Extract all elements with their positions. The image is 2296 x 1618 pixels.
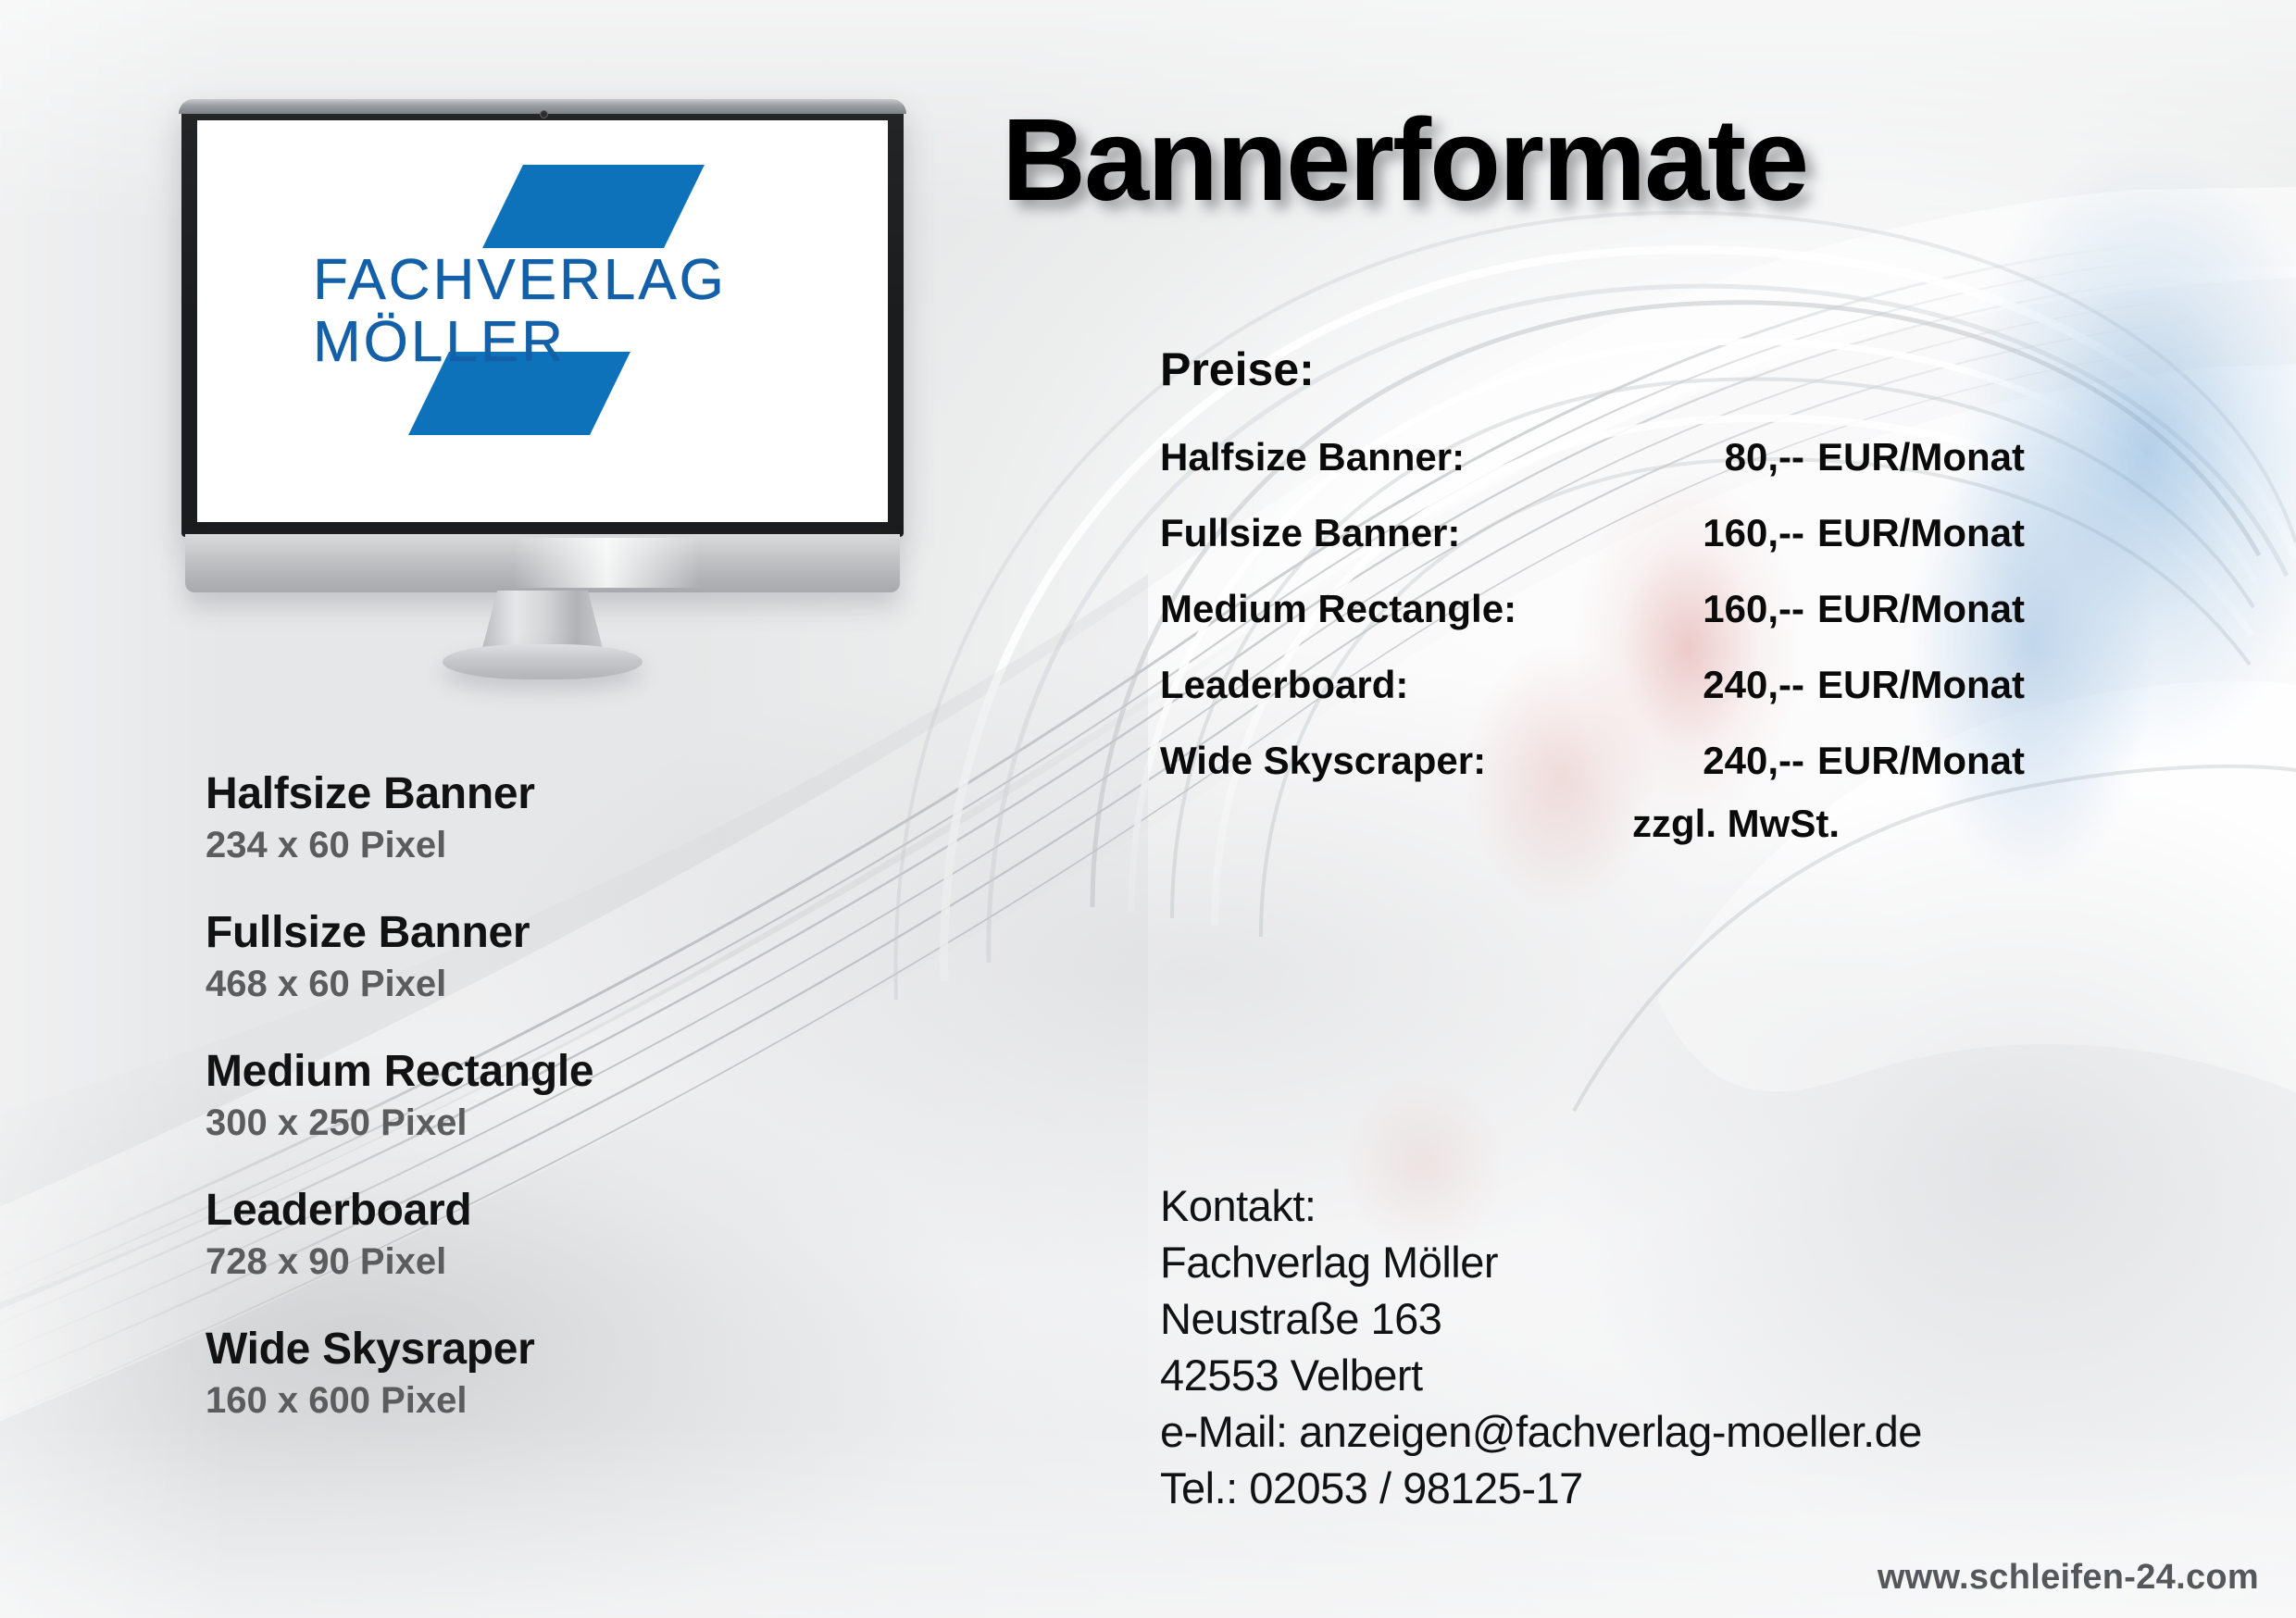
fachverlag-moeller-logo: FACHVERLAG MÖLLER (197, 120, 888, 522)
contact-email[interactable]: e-Mail: anzeigen@fachverlag-moeller.de (1160, 1403, 1922, 1460)
format-size: 234 x 60 Pixel (206, 825, 854, 866)
price-value: 240,-- (1632, 663, 1804, 707)
contact-heading: Kontakt: (1160, 1177, 1922, 1234)
logo-parallelogram-top-icon (482, 165, 705, 248)
monitor-chin (185, 534, 900, 592)
format-name: Fullsize Banner (206, 907, 854, 958)
monitor-stand-foot (443, 644, 643, 679)
contact-phone: Tel.: 02053 / 98125-17 (1160, 1460, 1922, 1516)
format-item: Wide Skysraper 160 x 600 Pixel (206, 1324, 854, 1422)
price-row: Fullsize Banner: 160,-- EUR/Monat (1160, 511, 2025, 555)
format-size: 468 x 60 Pixel (206, 964, 854, 1005)
price-label: Medium Rectangle: (1160, 587, 1632, 631)
format-item: Fullsize Banner 468 x 60 Pixel (206, 907, 854, 1005)
price-label: Fullsize Banner: (1160, 511, 1632, 555)
format-size: 300 x 250 Pixel (206, 1102, 854, 1144)
monitor-bezel: FACHVERLAG MÖLLER (181, 102, 904, 537)
price-label: Wide Skyscraper: (1160, 739, 1632, 783)
prices-heading: Preise: (1160, 342, 2025, 396)
price-value: 80,-- (1632, 435, 1804, 479)
format-item: Medium Rectangle 300 x 250 Pixel (206, 1046, 854, 1144)
price-value: 240,-- (1632, 739, 1804, 783)
price-unit: EUR/Monat (1804, 739, 2025, 783)
logo-line-2: MÖLLER (313, 312, 776, 374)
monitor-mockup: FACHVERLAG MÖLLER (181, 102, 904, 653)
price-label: Halfsize Banner: (1160, 435, 1632, 479)
format-name: Wide Skysraper (206, 1324, 854, 1375)
price-row: Leaderboard: 240,-- EUR/Monat (1160, 663, 2025, 707)
contact-city: 42553 Velbert (1160, 1347, 1922, 1403)
page-title: Bannerformate (1002, 93, 1807, 227)
price-row: Halfsize Banner: 80,-- EUR/Monat (1160, 435, 2025, 479)
logo-line-1: FACHVERLAG (313, 250, 776, 312)
price-value: 160,-- (1632, 587, 1804, 631)
logo-wordmark: FACHVERLAG MÖLLER (313, 250, 776, 374)
price-unit: EUR/Monat (1804, 663, 2025, 707)
prices-section: Preise: Halfsize Banner: 80,-- EUR/Monat… (1160, 342, 2025, 846)
format-size: 160 x 600 Pixel (206, 1380, 854, 1422)
format-name: Medium Rectangle (206, 1046, 854, 1097)
price-label: Leaderboard: (1160, 663, 1632, 707)
monitor-stand-neck (481, 591, 604, 652)
format-item: Leaderboard 728 x 90 Pixel (206, 1185, 854, 1283)
price-unit: EUR/Monat (1804, 587, 2025, 631)
contact-street: Neustraße 163 (1160, 1290, 1922, 1347)
format-item: Halfsize Banner 234 x 60 Pixel (206, 768, 854, 866)
format-name: Leaderboard (206, 1185, 854, 1236)
format-name: Halfsize Banner (206, 768, 854, 819)
monitor-screen: FACHVERLAG MÖLLER (197, 120, 888, 522)
vat-note: zzgl. MwSt. (1632, 802, 2025, 846)
price-unit: EUR/Monat (1804, 435, 2025, 479)
webcam-icon (540, 110, 548, 118)
footer-website-url[interactable]: www.schleifen-24.com (1878, 1558, 2259, 1598)
contact-block: Kontakt: Fachverlag Möller Neustraße 163… (1160, 1177, 1922, 1517)
banner-formats-list: Halfsize Banner 234 x 60 Pixel Fullsize … (206, 768, 854, 1462)
price-row: Wide Skyscraper: 240,-- EUR/Monat (1160, 739, 2025, 783)
poster-canvas: FACHVERLAG MÖLLER Bannerformate Preise: … (0, 0, 2296, 1618)
price-value: 160,-- (1632, 511, 1804, 555)
price-row: Medium Rectangle: 160,-- EUR/Monat (1160, 587, 2025, 631)
contact-company: Fachverlag Möller (1160, 1234, 1922, 1290)
format-size: 728 x 90 Pixel (206, 1241, 854, 1283)
price-unit: EUR/Monat (1804, 511, 2025, 555)
